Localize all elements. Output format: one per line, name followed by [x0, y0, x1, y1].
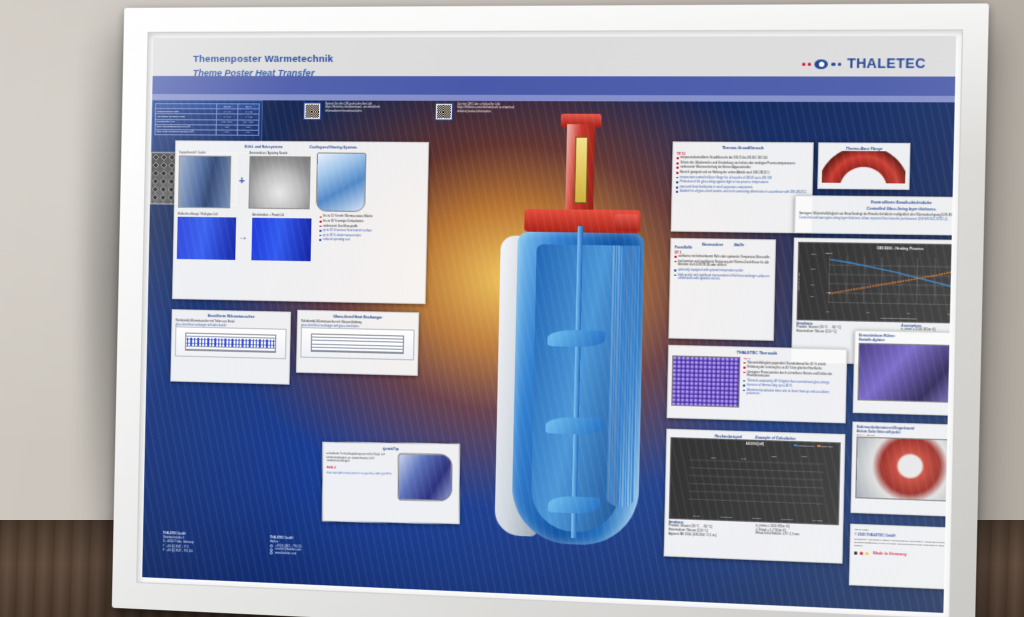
- bar-legend-2: Time t [min]: [821, 446, 833, 448]
- baffle-bullet-en-2: high-quality and significant improvement…: [674, 273, 771, 282]
- logo-dot-red-2: [808, 62, 812, 66]
- tbf-bullets-en: temperature controlled base flange for a…: [676, 176, 809, 195]
- bar-xcat-3: PowerCoil: [745, 518, 769, 521]
- thickness-text-en: Controlled and lower glass-lining layer …: [799, 216, 955, 222]
- calc-title-de: Rechenbeispiel: [715, 434, 742, 440]
- panel-example-calculation[interactable]: Rechenbeispiel Example of Calculation AE…: [664, 429, 846, 564]
- assumption-5: λ_Email = 1,2 W/(m·K): [901, 332, 955, 338]
- assumption-1: Produkt: Wasser (30 °C → 80 °C): [796, 326, 894, 332]
- table-header-row: WT 50 WT 3: [155, 104, 259, 110]
- powercoil-image: [251, 218, 311, 261]
- arrow-right-icon: →: [238, 230, 248, 243]
- spec-table: WT 50 WT 3 Betriebsdruck [bar]-1 / +16-1…: [154, 103, 259, 136]
- logo-wordmark: THALETEC: [847, 55, 926, 73]
- spec-table-panel[interactable]: WT 50 WT 3 Betriebsdruck [bar]-1 / +16-1…: [151, 100, 263, 153]
- page-title-en: Theme Poster Heat Transfer: [193, 68, 315, 80]
- thermolit-bullet-de-3: Geringere Prozesszeiten durch schnellere…: [743, 370, 842, 380]
- thermolit-microstructure-image: [671, 356, 740, 408]
- bar-legend-1: Heat flow Q [kW]: [797, 445, 814, 448]
- series-heating-time: [829, 259, 955, 296]
- label-jacket: Doppelmantel / Jacket: [179, 152, 235, 156]
- hx-drawing-de: [175, 327, 287, 360]
- logo-dot-blue-1: [832, 62, 836, 66]
- cooling-bullet-en-2: up to 30 % shorter turnover time: [319, 233, 379, 237]
- agitator-title-en: Heatable Agitator: [859, 338, 955, 344]
- xtick-1-6: 1.6: [907, 313, 910, 316]
- hx2-text-en: glass-lined heat exchanger with glass-li…: [301, 324, 415, 330]
- tbf-bullet-en-2: Protection of the glass-lining against h…: [676, 181, 808, 186]
- contact-street: Steinbachstraße 3: [163, 536, 256, 544]
- th-wt3: WT 3: [238, 104, 259, 109]
- vessel-top-flange: [524, 209, 640, 233]
- thermolit-bullet-de-1: Wärmeleitfähigkeit gegenüber Standardema…: [743, 361, 842, 367]
- quicktip-title: QuickTip: [327, 446, 456, 453]
- panel-cooling-heating[interactable]: Kühl- und Heizsysteme Cooling and Heatin…: [172, 140, 429, 304]
- line-chart-svg: [798, 243, 955, 321]
- flag-dot-gold: [865, 551, 869, 555]
- qr-code-icon-en[interactable]: [435, 103, 453, 121]
- thickness-title-de: Kontrollierte Emailschichtdicke: [799, 199, 955, 206]
- panel-copyright[interactable]: PS 01-2020 © 2020 THALETEC GmbH Technisc…: [849, 524, 955, 591]
- thickness-text-de: Geringere Wärmeleitfähigkeit von Email b…: [799, 212, 955, 218]
- agitator-blade-1: [547, 330, 605, 348]
- thickness-title-en: Controlled Glass-lining layer thickness: [799, 206, 955, 213]
- ytick-1300: 1300: [811, 254, 816, 257]
- poster: Themenposter Wärmetechnik Theme Poster H…: [142, 36, 956, 613]
- vessel-sight-gauge: [574, 137, 588, 204]
- made-in-germany-label: Made in Germany: [873, 551, 907, 557]
- th-blank: [155, 104, 216, 109]
- tbf-title-en: Thermo-Base Flange: [823, 147, 906, 152]
- contact-phone: +49 (0) 3947 - 77 0: [166, 545, 188, 550]
- cooling-bullets-en: up to 15 % increase heat transfer surfac…: [319, 229, 379, 243]
- qr-row: Nutzen Sie den QR-code oder den Link htt…: [303, 103, 522, 121]
- table-row: Operating pressure [bar]-1 / +16-1 / +25: [155, 114, 259, 120]
- poster-body: Nutzen Sie den QR-code oder den Link htt…: [142, 100, 954, 613]
- contact-fax: +49 (0) 3947 - 776 110: [166, 549, 192, 554]
- cooling-title-en: Cooling and Heating Systems: [309, 145, 357, 150]
- cooling-bullet-de-1: bis zu 15 % mehr Wärmeaustauschfläche: [320, 215, 380, 219]
- bar-value-label-1: 1.1 h: [711, 458, 716, 461]
- panel-thermo-flange-photo[interactable]: Thermo-Base Flange: [817, 142, 910, 190]
- panel-heatable-agitator[interactable]: Demontierbarer Rührer Heatable Agitator: [853, 330, 955, 416]
- xtick-0-8: 0.8: [826, 311, 829, 314]
- panel-baffle[interactable]: Stromstörer Baffle PowerBaffle ST 1 wahl…: [668, 238, 776, 341]
- baffle-bullet-de-2: hochwertige und signifikante Steigerung …: [674, 260, 771, 269]
- valve-tag-2: BAV 5: [867, 434, 875, 438]
- thermolit-bullet-en-1: Thermal conductivity 30 % higher than co…: [743, 379, 842, 385]
- bar-assumption-3: Apparat: AE 2500 (DN 2500 / 2,5 m³): [668, 532, 750, 539]
- panel-thermo-base-flange[interactable]: Thermo-Grundflansch TF 11 temperaturkont…: [671, 141, 814, 233]
- panel-bottom-outlet-valve[interactable]: Bodenauslaufarmatur mit Doppelmantel Bot…: [850, 421, 954, 517]
- contact-web[interactable]: www.thaletec.com: [275, 552, 296, 557]
- baffle-bullets-de: wahlweise mit beheizbarem Rohr oder opti…: [674, 255, 771, 269]
- contact-hotline: +49 (0) 3947 - 776 111: [275, 544, 302, 549]
- tbf-bullet-de-2: Schutz des Glasbereichs und Verstärkung …: [676, 161, 808, 166]
- tbf-bullet-de-1: temperaturkontrollierte Grundflansche de…: [677, 156, 809, 161]
- bar-value-label-4: 0.9 h: [802, 456, 807, 459]
- tbf-title-de: Thermo-Grundflansch: [677, 146, 809, 152]
- agitator-shaft: [571, 226, 583, 538]
- bar-assumption-1: Produkt: Wasser (30 °C → 80 °C): [669, 525, 751, 532]
- qr-text-de: Nutzen Sie den QR-code oder den Link htt…: [325, 103, 389, 114]
- fax-label: F: [163, 548, 165, 552]
- vessel-heating-coils: [606, 245, 640, 507]
- tube-bundle-photo: [150, 152, 237, 205]
- qr-block-en[interactable]: Use the QR Code or follow the Link https…: [435, 103, 523, 121]
- logo-dot-blue-2: [838, 62, 842, 66]
- bar-assumption-4: α_innen = 1500 W/(m²·K): [756, 524, 839, 531]
- vessel-neck: [565, 124, 595, 212]
- baffle-title-en: Baffle: [734, 243, 744, 248]
- agitating-nozzle-image: [248, 156, 310, 209]
- tbf-tag: TF 11: [677, 152, 809, 157]
- baffle-bullet-en-1: optionally equipped with optional temper…: [674, 268, 771, 273]
- framed-poster[interactable]: Themenposter Wärmetechnik Theme Poster H…: [112, 3, 989, 617]
- table-row: max. heat exchange surface [m²]180450: [155, 130, 259, 136]
- xtick-2-0: 2.0: [948, 314, 951, 317]
- agitator-title-de: Demontierbarer Rührer: [859, 334, 955, 341]
- baffle-bullets-en: optionally equipped with optional temper…: [674, 268, 771, 282]
- hx2-text-de: Rohrbündel-Wärmetauscher mit Glasausklei…: [301, 320, 415, 326]
- panel-heat-exchanger-en[interactable]: Glass-lined Heat Exchanger Rohrbündel-Wä…: [296, 310, 419, 376]
- hx-title-de: Emaillierte Wärmetauscher: [176, 313, 287, 320]
- qr-text-en: Use the QR Code or follow the Link https…: [457, 103, 523, 114]
- cooling-bullets-de: bis zu 15 % mehr Wärmeaustauschfläche bi…: [319, 215, 379, 229]
- frame-matte: Themenposter Wärmetechnik Theme Poster H…: [136, 29, 963, 617]
- made-in-germany-badge: Made in Germany: [854, 550, 955, 559]
- label-nozzle: Anströmdüse / Agitating Nozzle: [249, 152, 312, 156]
- vessel-body: [511, 232, 644, 547]
- globe-icon: [270, 552, 273, 555]
- agitator-photo: [857, 342, 954, 402]
- hx-drawing-en: [300, 327, 414, 360]
- bar-assumption-5: λ_Email = 1,2 W/(m·K): [756, 528, 839, 535]
- panel-heating-process-chart[interactable]: DE16500 - Heating Process Heat flow Q [k…: [791, 238, 955, 368]
- bar-xcat-4: PC Thermolit: [775, 519, 799, 522]
- qr-code-icon-de[interactable]: [303, 103, 321, 120]
- copyright-text: © 2020 THALETEC GmbH: [854, 533, 954, 541]
- calc-title-en: Example of Calculation: [755, 436, 795, 442]
- line-chart-xlabel: Glass-lining layer thickness [mm]: [798, 316, 955, 323]
- panel-thermolit[interactable]: THALETEC Thermolit ICH 1 Wärmeleitfähigk…: [667, 345, 848, 424]
- assumptions-title-de: Annahmen: [796, 322, 894, 328]
- jacket-image: [178, 155, 231, 208]
- contact-company: THALETEC GmbH: [163, 532, 256, 540]
- contact-block: THALETEC GmbH Steinbachstraße 3 D - 0650…: [163, 532, 367, 561]
- line-chart-ylabel: Heat flow Q [kW]: [798, 272, 802, 289]
- label-powercoil-de: Anströmdüse + PowerCoil: [252, 214, 315, 218]
- quicktip-text-de: Emaillierte Schnellkupplung zum Anschlus…: [327, 452, 395, 464]
- bar-chart-title: AE 2500 [kW]: [671, 440, 839, 449]
- bar-xcat-1: Std. DM: [685, 515, 708, 518]
- thermolit-title: THALETEC Thermolit: [672, 349, 842, 358]
- assumption-4: α_innen = 1500 W/(m²·K): [901, 328, 955, 334]
- thaletec-logo: THALETEC: [801, 55, 926, 73]
- table-row: max. Wärmetauschfläche [m²]180450: [155, 124, 259, 130]
- bar-assumption-6: Email-Schichtdicke: 0,9 / 1,5 mm: [756, 532, 839, 539]
- series-heat-flow: [829, 259, 955, 296]
- label-heat-flow-first: 1230.8: [825, 253, 832, 256]
- vessel-top-cap: [561, 114, 602, 129]
- line-chart: DE16500 - Heating Process Heat flow Q [k…: [797, 242, 955, 325]
- thermolit-bullets-en: Thermal conductivity 30 % higher than co…: [743, 379, 842, 398]
- baffle-tag: ST 1: [675, 251, 772, 257]
- panel-glass-thickness[interactable]: Kontrollierte Emailschichtdicke Controll…: [794, 195, 955, 236]
- tbf-bullet-en-3: improved heat distribution in small appa…: [676, 185, 808, 190]
- ytick-700: 700: [810, 297, 814, 300]
- agitator-blade-2: [545, 417, 603, 435]
- xtick-1-2: 1.2: [866, 312, 869, 315]
- cfd-mesh-image: [316, 153, 367, 213]
- cooling-title-de: Kühl- und Heizsysteme: [245, 145, 283, 150]
- agitator-blade-3: [548, 496, 600, 515]
- bar-xcat-5: PC + Baffle: [806, 520, 830, 523]
- tbf-bullet-de-3: verbesserte Wärmeverteilung bei kleinen …: [676, 166, 808, 171]
- contact-email[interactable]: service@thaletec.com: [275, 548, 301, 553]
- baffle-sub: PowerBaffle: [675, 247, 772, 252]
- contact-city: D - 06502 Thale, Germany: [163, 539, 256, 547]
- logo-dot-red-1: [802, 62, 806, 66]
- ytick-1100: 1100: [811, 269, 816, 272]
- reactor-vessel-illustration: [468, 109, 682, 603]
- bar-chart: AE 2500 [kW] Heat flow Q [kW] Time t [mi…: [669, 438, 841, 526]
- cooling-bullet-en-3: reduced operating cost: [319, 238, 379, 242]
- cooling-bullet-de-2: bis zu 30 % weniger Umlaufzeiten: [320, 220, 380, 224]
- valve-title-de: Bodenauslaufarmatur mit Doppelmantel: [857, 426, 955, 433]
- bar-assumption-2: Heizmedium: Wasser (120 °C): [668, 528, 750, 535]
- quicktip-text-en: Fast and tight connection for media line…: [326, 471, 394, 476]
- table-row: Temperatur [°C]-25 / +200-25 / +200: [155, 119, 259, 125]
- vessel-outer-shell: [494, 235, 543, 536]
- tbf-bullet-de-4: Bereich geeignet und zur Haltung der unt…: [676, 171, 808, 176]
- baffle-bullet-de-1: wahlweise mit beheizbarem Rohr oder opti…: [674, 255, 771, 260]
- thermo-flange-ring-image: [822, 151, 906, 184]
- copyright-disclaimer: Technische Änderungen, Irrtümer und Druc…: [854, 539, 955, 553]
- tbf-bullet-en-4: Suitable for all glass-lined nozzles and…: [676, 190, 808, 195]
- flag-dot-red: [859, 551, 863, 555]
- quicktip-coupling-image: [398, 453, 453, 501]
- cooling-bullet-en-1: up to 15 % increase heat transfer surfac…: [319, 229, 379, 233]
- mail-icon: [270, 548, 273, 551]
- thermolit-tag-1: ICH 1: [744, 357, 843, 363]
- table-row: Betriebsdruck [bar]-1 / +16-1 / +25: [155, 109, 259, 115]
- bar-chart-plot-area: [689, 452, 824, 505]
- valve-tag-1: BAV 4: [857, 433, 865, 437]
- bottom-valve-photo: [855, 437, 954, 503]
- contact-company-2: THALETEC GmbH: [270, 536, 364, 544]
- page-title-de: Themenposter Wärmetechnik: [193, 54, 334, 67]
- halfpipe-coil-image: [177, 217, 236, 260]
- tbf-bullet-en-1: temperature controlled base flange for a…: [676, 176, 808, 181]
- bar-chart-legend: Heat flow Q [kW] Time t [min]: [794, 444, 833, 449]
- quicktip-tag2: SKN 2: [327, 465, 395, 470]
- assumption-2: Heizmedium: Wasser (120 °C): [796, 329, 894, 335]
- logo-atom-icon: [815, 59, 829, 69]
- phone-icon: [270, 544, 273, 547]
- ytick-900: 900: [810, 284, 814, 287]
- bar-xcat-2: Thermolit DM: [715, 517, 738, 520]
- hx-text-de: Rohrbündel-Wärmetauscher mit Teilen aus …: [175, 320, 286, 326]
- th-wt50: WT 50: [217, 104, 238, 109]
- hotline-label: Hotline: [270, 540, 364, 548]
- qr-block-de[interactable]: Nutzen Sie den QR-code oder den Link htt…: [303, 103, 389, 121]
- baffle-title-de: Stromstörer: [702, 243, 723, 248]
- label-time-first: 0.96: [826, 292, 831, 295]
- valve-title-en: Bottom Outlet Valve with jacket: [857, 430, 955, 437]
- thermolit-bullet-en-3: Shortened production times due to faster…: [743, 388, 842, 398]
- tbf-bullets-de: temperaturkontrollierte Grundflansche de…: [676, 156, 809, 175]
- bar-value-label-2: 1.4 h: [741, 459, 746, 462]
- plus-icon: +: [239, 175, 245, 188]
- bar-value-label-3: 1.2 h: [771, 456, 776, 459]
- thermolit-bullet-en-2: Increase of thermal duty up to 40 %: [743, 383, 842, 389]
- flag-dot-black: [854, 551, 858, 555]
- panel-heat-exchanger-de[interactable]: Emaillierte Wärmetauscher Rohrbündel-Wär…: [170, 309, 291, 385]
- panel-quicktip[interactable]: QuickTip Emaillierte Schnellkupplung zum…: [322, 442, 459, 524]
- assumptions-title-en: Assumptions: [901, 324, 955, 330]
- bar-assumptions-title: Annahmen: [669, 521, 751, 528]
- copyright-tag: PS 01-2020: [855, 528, 955, 536]
- vessel-side-valve: [614, 214, 638, 231]
- hx-text-en: glass-lined heat exchanger with tube bun…: [175, 323, 286, 329]
- phone-label: T: [163, 545, 165, 549]
- hx-title-en: Glass-lined Heat Exchanger: [301, 314, 415, 321]
- cooling-bullet-de-3: verbesserte Durchflussprofile: [319, 224, 379, 228]
- line-chart-title: DE16500 - Heating Process: [799, 245, 955, 253]
- vessel-interior: [531, 244, 625, 533]
- thermolit-bullets-de: Wärmeleitfähigkeit gegenüber Standardema…: [743, 361, 842, 380]
- thermolit-bullet-de-2: Erhöhung der Leistung bis zu 40 % bei gl…: [743, 366, 842, 372]
- line-chart-plot-area: [828, 256, 955, 307]
- label-halfpipe-coil: Halbrohrschlange / Half-pipe-Coil: [178, 213, 234, 217]
